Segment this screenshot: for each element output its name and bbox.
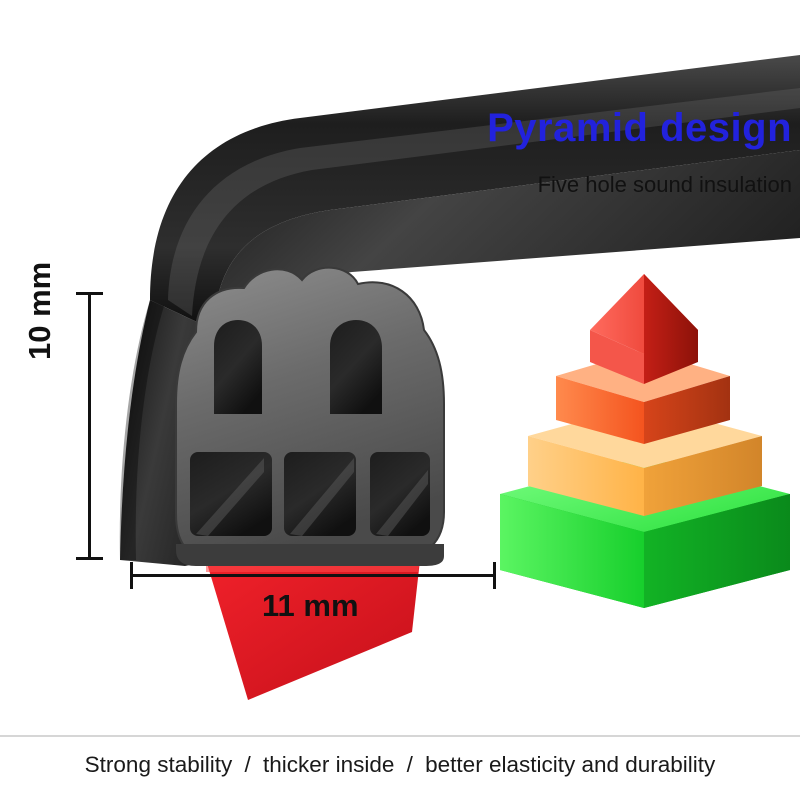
caption-separator-1: /	[239, 752, 257, 777]
caption-part-1: Strong stability	[85, 752, 233, 777]
height-dimension-label: 10 mm	[22, 262, 58, 360]
pyramid-graphic	[500, 274, 790, 608]
width-dimension-cap-left	[130, 562, 133, 589]
headline-subtitle: Five hole sound insulation	[538, 172, 792, 198]
adhesive-tape	[206, 560, 420, 700]
height-dimension-line	[88, 292, 91, 560]
caption-part-3: better elasticity and durability	[425, 752, 715, 777]
feature-caption: Strong stability / thicker inside / bett…	[0, 752, 800, 778]
width-dimension-line	[130, 574, 496, 577]
width-dimension-label: 11 mm	[262, 588, 359, 624]
product-infographic: Pyramid design Five hole sound insulatio…	[0, 0, 800, 800]
height-dimension-cap-bottom	[76, 557, 103, 560]
seal-cross-section	[176, 268, 444, 566]
height-dimension-cap-top	[76, 292, 103, 295]
caption-part-2: thicker inside	[263, 752, 394, 777]
headline-title: Pyramid design	[487, 106, 792, 151]
caption-separator-2: /	[401, 752, 419, 777]
caption-divider	[0, 735, 800, 737]
width-dimension-cap-right	[493, 562, 496, 589]
